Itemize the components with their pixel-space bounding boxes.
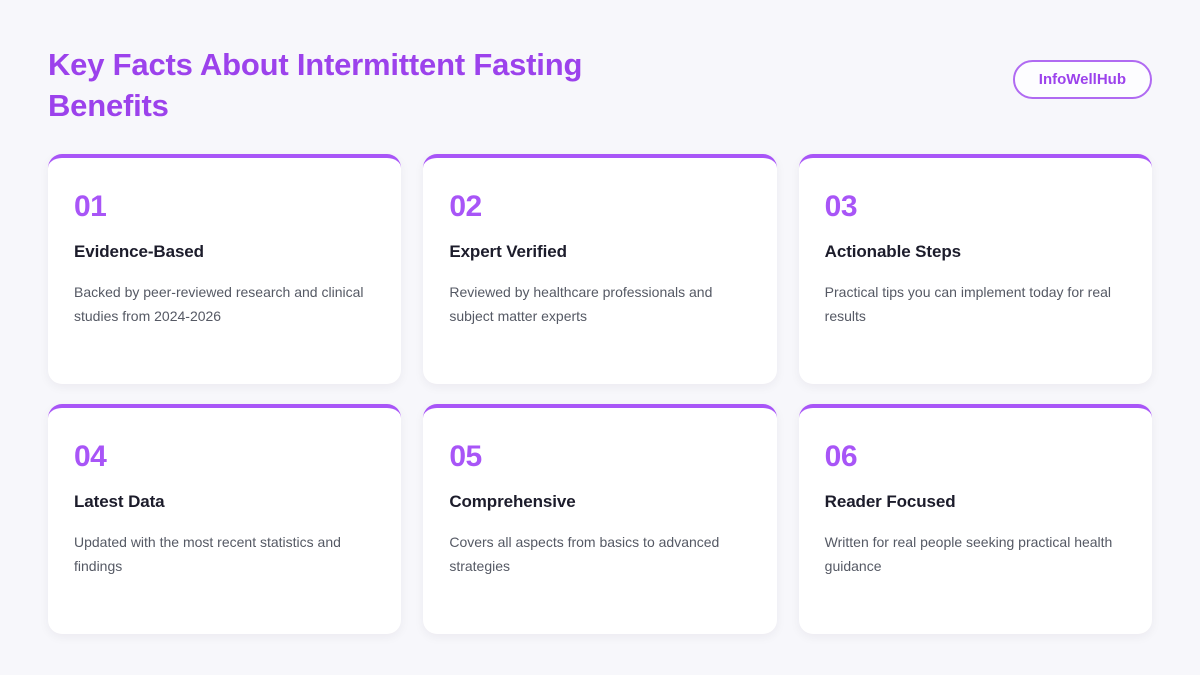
- infographic-page: Key Facts About Intermittent Fasting Ben…: [0, 0, 1200, 675]
- fact-card[interactable]: 04 Latest Data Updated with the most rec…: [48, 404, 401, 634]
- fact-card-number: 04: [74, 442, 375, 472]
- fact-card[interactable]: 05 Comprehensive Covers all aspects from…: [423, 404, 776, 634]
- fact-card-description: Practical tips you can implement today f…: [825, 280, 1126, 328]
- page-title: Key Facts About Intermittent Fasting Ben…: [48, 44, 688, 126]
- fact-card-description: Reviewed by healthcare professionals and…: [449, 280, 750, 328]
- fact-card-description: Backed by peer-reviewed research and cli…: [74, 280, 375, 328]
- fact-card-title: Reader Focused: [825, 492, 1126, 512]
- fact-card[interactable]: 03 Actionable Steps Practical tips you c…: [799, 154, 1152, 384]
- fact-card-number: 05: [449, 442, 750, 472]
- fact-card-title: Actionable Steps: [825, 242, 1126, 262]
- fact-card-title: Expert Verified: [449, 242, 750, 262]
- brand-badge[interactable]: InfoWellHub: [1013, 60, 1152, 99]
- fact-card-title: Comprehensive: [449, 492, 750, 512]
- page-header: Key Facts About Intermittent Fasting Ben…: [48, 44, 1152, 126]
- fact-card-description: Covers all aspects from basics to advanc…: [449, 530, 750, 578]
- fact-card-number: 06: [825, 442, 1126, 472]
- fact-cards-grid: 01 Evidence-Based Backed by peer-reviewe…: [48, 154, 1152, 634]
- fact-card-number: 02: [449, 192, 750, 222]
- fact-card-description: Updated with the most recent statistics …: [74, 530, 375, 578]
- fact-card[interactable]: 06 Reader Focused Written for real peopl…: [799, 404, 1152, 634]
- fact-card-title: Evidence-Based: [74, 242, 375, 262]
- fact-card-number: 03: [825, 192, 1126, 222]
- fact-card-title: Latest Data: [74, 492, 375, 512]
- fact-card-number: 01: [74, 192, 375, 222]
- fact-card[interactable]: 01 Evidence-Based Backed by peer-reviewe…: [48, 154, 401, 384]
- fact-card[interactable]: 02 Expert Verified Reviewed by healthcar…: [423, 154, 776, 384]
- fact-card-description: Written for real people seeking practica…: [825, 530, 1126, 578]
